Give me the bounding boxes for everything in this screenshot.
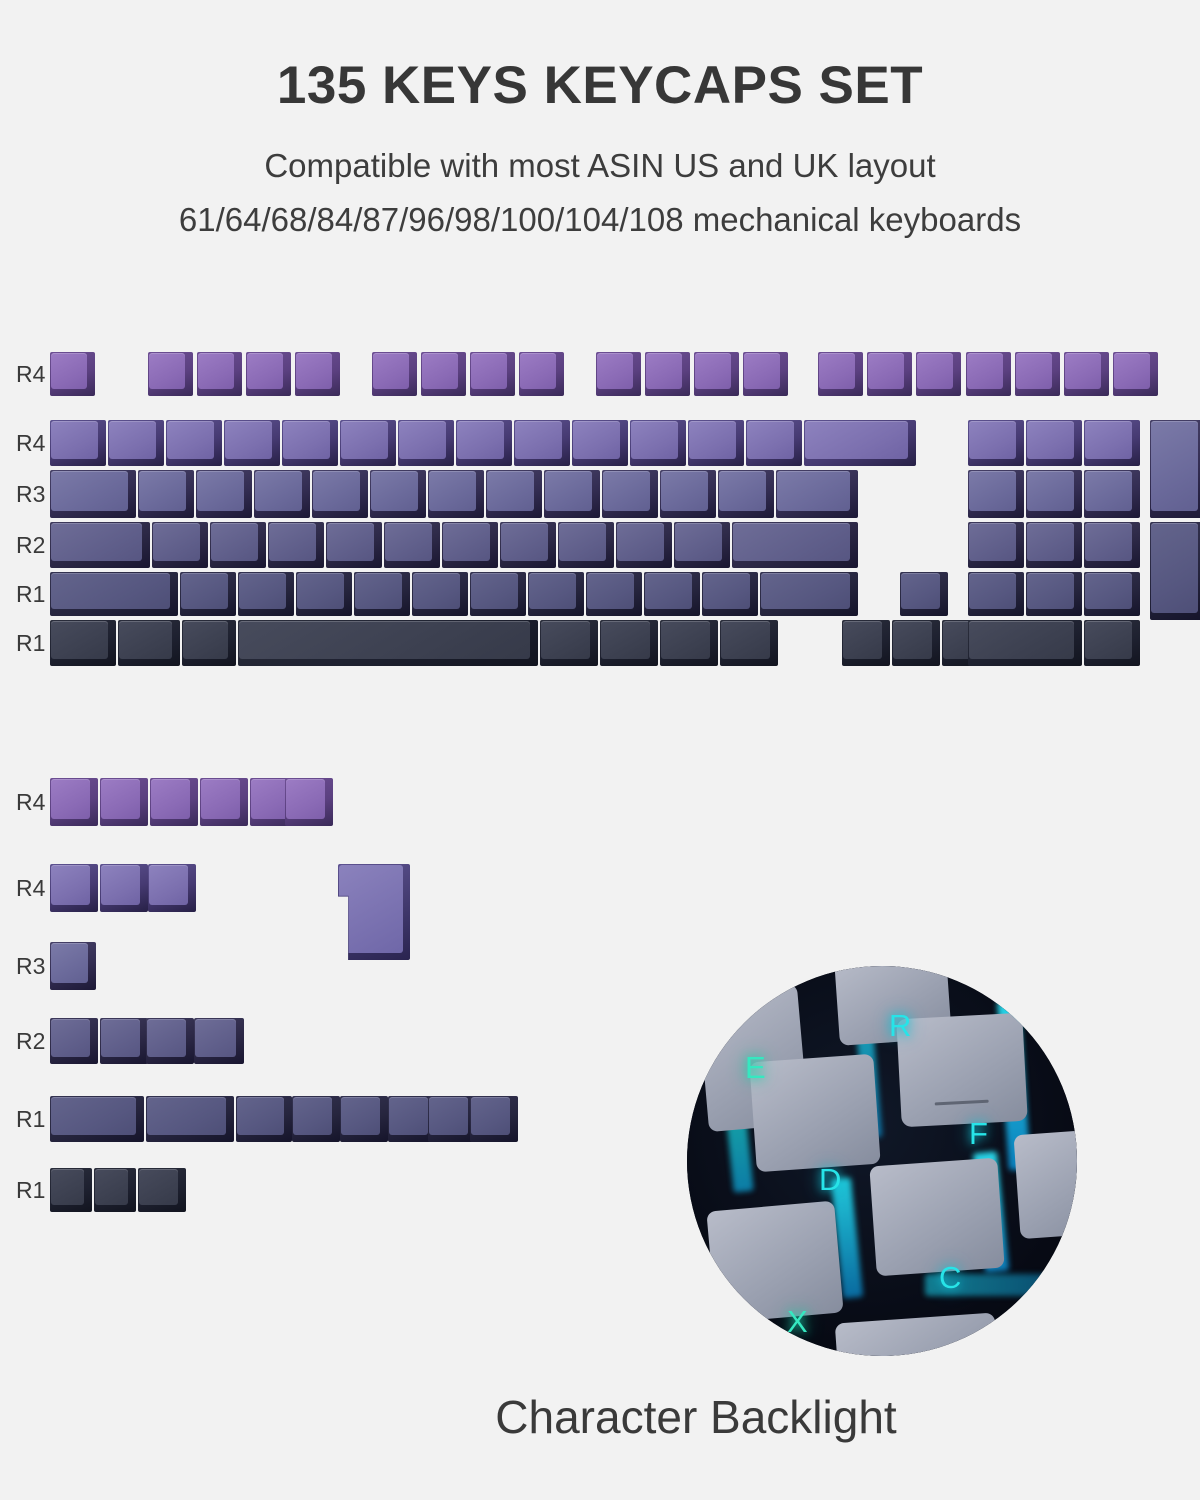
keycap-top-face <box>1085 621 1132 659</box>
main-keycap-r0-k16 <box>966 352 1011 396</box>
main-keycap-r2-k13 <box>968 470 1024 518</box>
keycap-top-face <box>147 1019 186 1057</box>
keycap-top-face <box>969 621 1074 659</box>
main-keycap-r2-k8 <box>544 470 600 518</box>
keycap-top-face <box>183 621 228 659</box>
keycap-top-face <box>101 1019 140 1057</box>
keycap-top-face <box>457 421 504 459</box>
main-keycap-r2-k0 <box>50 470 136 518</box>
keycap-top-face <box>429 471 476 511</box>
keycap-top-face <box>603 471 650 511</box>
photo-legend-c: C <box>939 1262 961 1293</box>
numpad-plus <box>1150 420 1200 518</box>
main-keycap-r0-k14 <box>867 352 912 396</box>
keycap-top-face <box>601 621 650 659</box>
main-keycap-r5-k9 <box>892 620 940 666</box>
main-keycap-r4-k5 <box>412 572 468 616</box>
keycap-top-face <box>471 573 518 609</box>
main-keycap-r1-k2 <box>166 420 222 466</box>
extra-keycaps-section: R4R4R3R2R1R1 <box>0 778 640 1218</box>
extra-keycap-r5-k1 <box>94 1168 136 1212</box>
keycap-top-face <box>286 779 325 819</box>
keycap-top-face <box>703 573 750 609</box>
main-keycap-r3-k7 <box>500 522 556 568</box>
keycap-top-face <box>733 523 850 561</box>
main-keycap-r4-k10 <box>702 572 758 616</box>
keycap-top-face <box>237 1097 284 1135</box>
keycap-top-face <box>313 471 360 511</box>
main-keycap-r4-k0 <box>50 572 178 616</box>
keycap-top-face <box>147 1097 226 1135</box>
main-keycap-r3-k9 <box>616 522 672 568</box>
main-keycap-r2-k9 <box>602 470 658 518</box>
main-keycap-r2-k4 <box>312 470 368 518</box>
main-keycap-r3-k1 <box>152 522 208 568</box>
main-keycap-r5-k7 <box>720 620 778 666</box>
keycap-top-face <box>1027 471 1074 511</box>
numpad-enter <box>1150 522 1200 620</box>
main-keycap-r1-k16 <box>1084 420 1140 466</box>
keycap-top-face <box>1027 573 1074 609</box>
keycap-top-face <box>901 573 940 609</box>
extra-keycap-r4-k1 <box>146 1096 234 1142</box>
keycap-top-face <box>371 471 418 511</box>
keycap-top-face <box>631 421 678 459</box>
keycap-top-face <box>661 471 708 511</box>
main-keycap-r2-k3 <box>254 470 310 518</box>
keycap-top-face <box>149 353 185 389</box>
keycap-top-face <box>51 573 170 609</box>
main-keycap-r5-k1 <box>118 620 180 666</box>
keycap-top-face <box>1114 353 1150 389</box>
keycap-top-face <box>51 621 108 659</box>
extra-keycap-r3-k3 <box>194 1018 244 1064</box>
main-keycap-r4-k11 <box>760 572 858 616</box>
main-keycap-r1-k12 <box>746 420 802 466</box>
keycap-top-face <box>969 523 1016 561</box>
keycap-top-face <box>969 573 1016 609</box>
keycap-top-face <box>296 353 332 389</box>
keycap-top-face <box>109 421 156 459</box>
keycap-top-face <box>843 621 882 659</box>
main-keycap-r5-k5 <box>600 620 658 666</box>
keycap-top-face <box>101 865 140 905</box>
keycap-top-face <box>153 523 200 561</box>
keycap-top-face <box>969 471 1016 511</box>
keycap-top-face <box>967 353 1003 389</box>
keycap-top-face <box>695 353 731 389</box>
main-keycap-r1-k4 <box>282 420 338 466</box>
main-keycap-r3-k2 <box>210 522 266 568</box>
main-keycap-r0-k11 <box>694 352 739 396</box>
keycap-top-face <box>51 865 90 905</box>
main-keycap-r0-k3 <box>246 352 291 396</box>
photo-legend-x: X <box>787 1306 808 1337</box>
iso-enter-keycap <box>338 864 410 960</box>
extra-keycap-r4-k7 <box>470 1096 518 1142</box>
keycap-top-face <box>373 353 409 389</box>
photo-legend-r: R <box>889 1010 911 1041</box>
extra-keycap-r4-k0 <box>50 1096 144 1142</box>
keycap-top-face <box>399 421 446 459</box>
keycap-top-face <box>101 779 140 819</box>
main-keycap-r4-k9 <box>644 572 700 616</box>
main-keycap-r3-k0 <box>50 522 150 568</box>
main-keycap-r1-k7 <box>456 420 512 466</box>
main-keycap-r1-k13 <box>804 420 916 466</box>
keycap-top-face <box>149 865 188 905</box>
keycap-top-face <box>297 573 344 609</box>
keycap-top-face <box>1016 353 1052 389</box>
main-keycap-r0-k5 <box>372 352 417 396</box>
main-keycap-r3-k12 <box>968 522 1024 568</box>
keycap-top-face <box>545 471 592 511</box>
main-keycap-r1-k6 <box>398 420 454 466</box>
backlight-photo-wrapper: E R D F X C <box>687 966 1077 1356</box>
extra-keycap-r5-k0 <box>50 1168 92 1212</box>
main-keycap-r0-k1 <box>148 352 193 396</box>
keycap-top-face <box>969 421 1016 459</box>
main-keycap-r2-k5 <box>370 470 426 518</box>
main-keycap-r0-k10 <box>645 352 690 396</box>
main-keycap-r4-k2 <box>238 572 294 616</box>
main-keycap-r0-k17 <box>1015 352 1060 396</box>
main-keycap-r3-k5 <box>384 522 440 568</box>
keycap-top-face <box>675 523 722 561</box>
main-keycap-r3-k10 <box>674 522 730 568</box>
keycap-top-face <box>617 523 664 561</box>
keycap-top-face <box>487 471 534 511</box>
main-keycap-r4-k14 <box>1026 572 1082 616</box>
keycap-top-face <box>201 779 240 819</box>
main-keycap-r3-k14 <box>1084 522 1140 568</box>
keycap-top-face <box>893 621 932 659</box>
main-keycap-r5-k8 <box>842 620 890 666</box>
keycap-top-face <box>1027 421 1074 459</box>
keycap-top-face <box>255 471 302 511</box>
keycap-top-face <box>559 523 606 561</box>
main-keycap-r2-k7 <box>486 470 542 518</box>
extra-keycap-r0-k5 <box>285 778 333 826</box>
keycap-top-face <box>269 523 316 561</box>
keycap-top-face <box>443 523 490 561</box>
keycap-top-face <box>1151 523 1198 613</box>
main-keycap-r2-k1 <box>138 470 194 518</box>
keycap-top-face <box>1065 353 1101 389</box>
main-keycap-r1-k5 <box>340 420 396 466</box>
subtitle-line-1: Compatible with most ASIN US and UK layo… <box>0 148 1200 184</box>
extra-keycap-r0-k2 <box>150 778 198 826</box>
main-keycap-r1-k1 <box>108 420 164 466</box>
photo-key-x-row <box>706 1201 843 1324</box>
header-block: 135 KEYS KEYCAPS SET Compatible with mos… <box>0 0 1200 238</box>
main-keycap-r4-k13 <box>968 572 1024 616</box>
main-keycap-r1-k10 <box>630 420 686 466</box>
main-keyboard-layout: R4R4R3R2R1R1 <box>0 352 1200 692</box>
keycap-top-face <box>744 353 780 389</box>
main-keycap-r4-k6 <box>470 572 526 616</box>
main-keycap-r4-k4 <box>354 572 410 616</box>
keycap-top-face <box>197 471 244 511</box>
keycap-top-face <box>51 779 90 819</box>
keycap-top-face <box>1085 523 1132 561</box>
extra-keycap-r5-k2 <box>138 1168 186 1212</box>
keycap-top-face <box>167 421 214 459</box>
keycap-top-face <box>529 573 576 609</box>
photo-key-c-row <box>869 1158 1004 1277</box>
keycap-top-face <box>195 1019 236 1057</box>
main-keycap-r0-k19 <box>1113 352 1158 396</box>
keycap-top-face <box>646 353 682 389</box>
main-keycap-r1-k8 <box>514 420 570 466</box>
main-keycap-r5-k12 <box>1084 620 1140 666</box>
main-keycap-r0-k2 <box>197 352 242 396</box>
main-keycap-r2-k2 <box>196 470 252 518</box>
subtitle-line-2: 61/64/68/84/87/96/98/100/104/108 mechani… <box>0 202 1200 238</box>
extra-keycap-r1-k0 <box>50 864 98 912</box>
keycap-top-face <box>51 471 128 511</box>
extra-keycap-r4-k3 <box>292 1096 340 1142</box>
keycap-top-face <box>868 353 904 389</box>
keycap-top-face <box>327 523 374 561</box>
page-title: 135 KEYS KEYCAPS SET <box>0 58 1200 114</box>
main-keycap-r4-k15 <box>1084 572 1140 616</box>
keycap-top-face <box>225 421 272 459</box>
keycap-top-face <box>501 523 548 561</box>
keycap-top-face <box>51 353 87 389</box>
main-keycap-r5-k0 <box>50 620 116 666</box>
keycap-top-face <box>283 421 330 459</box>
main-keycap-r0-k9 <box>596 352 641 396</box>
extra-keycap-r4-k4 <box>340 1096 388 1142</box>
keycap-top-face <box>587 573 634 609</box>
keycap-top-face <box>777 471 850 511</box>
main-keycap-r2-k6 <box>428 470 484 518</box>
keycap-top-face <box>51 1097 136 1135</box>
keycap-top-face <box>917 353 953 389</box>
keycap-top-face <box>355 573 402 609</box>
keycap-top-face <box>413 573 460 609</box>
keycap-top-face <box>51 523 142 561</box>
keycap-top-face <box>389 1097 428 1135</box>
main-keycap-r0-k4 <box>295 352 340 396</box>
photo-caption-text: Character Backlight <box>295 1390 896 1444</box>
extra-keycap-r3-k1 <box>100 1018 148 1064</box>
extra-keycap-r3-k2 <box>146 1018 194 1064</box>
main-keycap-r4-k12 <box>900 572 948 616</box>
keycap-top-face <box>1085 573 1132 609</box>
keycap-top-face <box>139 471 186 511</box>
keycap-top-face <box>515 421 562 459</box>
keycap-top-face <box>151 779 190 819</box>
keycap-top-face <box>211 523 258 561</box>
keycap-top-face <box>239 621 530 659</box>
main-keycap-r2-k12 <box>776 470 858 518</box>
main-keycap-r1-k0 <box>50 420 106 466</box>
extra-keycap-r4-k2 <box>236 1096 292 1142</box>
keycap-top-face <box>198 353 234 389</box>
keycap-top-face <box>689 421 736 459</box>
main-keycap-r4-k3 <box>296 572 352 616</box>
keycap-top-face <box>51 421 98 459</box>
keycap-top-face <box>721 621 770 659</box>
main-keycap-r0-k13 <box>818 352 863 396</box>
main-keycap-r5-k2 <box>182 620 236 666</box>
main-keycap-r1-k15 <box>1026 420 1082 466</box>
photo-key-e <box>749 1054 880 1172</box>
main-keycap-r0-k7 <box>470 352 515 396</box>
main-keycap-r1-k9 <box>572 420 628 466</box>
main-keycap-r3-k4 <box>326 522 382 568</box>
main-keycap-r1-k3 <box>224 420 280 466</box>
main-keycap-r2-k10 <box>660 470 716 518</box>
keycap-top-face <box>520 353 556 389</box>
main-keycap-r4-k1 <box>180 572 236 616</box>
keycap-top-face <box>471 1097 510 1135</box>
main-keycap-r4-k8 <box>586 572 642 616</box>
main-keycap-r5-k6 <box>660 620 718 666</box>
main-keycap-r0-k6 <box>421 352 466 396</box>
photo-legend-d: D <box>819 1164 841 1195</box>
extra-keycap-r0-k3 <box>200 778 248 826</box>
keycap-top-face <box>761 573 850 609</box>
keycap-top-face <box>51 1169 84 1205</box>
backlight-product-photo: E R D F X C <box>687 966 1077 1356</box>
main-keycap-r4-k7 <box>528 572 584 616</box>
keycap-top-face <box>385 523 432 561</box>
main-keycap-r3-k6 <box>442 522 498 568</box>
extra-keycap-r3-k0 <box>50 1018 98 1064</box>
main-keycap-r3-k11 <box>732 522 858 568</box>
keycap-top-face <box>541 621 590 659</box>
keycap-top-face <box>429 1097 468 1135</box>
main-keycap-r2-k14 <box>1026 470 1082 518</box>
keycap-top-face <box>1085 471 1132 511</box>
main-keycap-r2-k11 <box>718 470 774 518</box>
photo-legend-e: E <box>745 1052 766 1083</box>
main-keycap-r5-k3 <box>238 620 538 666</box>
extra-keycap-r1-k2 <box>148 864 196 912</box>
main-keycap-r2-k15 <box>1084 470 1140 518</box>
keycap-top-face <box>239 573 286 609</box>
main-keycap-r0-k12 <box>743 352 788 396</box>
main-keycap-r0-k18 <box>1064 352 1109 396</box>
keycap-top-face <box>573 421 620 459</box>
keycap-top-face <box>805 421 908 459</box>
keycap-top-face <box>139 1169 178 1205</box>
extra-keycap-r1-k1 <box>100 864 148 912</box>
main-keycap-r0-k0 <box>50 352 95 396</box>
keycap-top-face <box>51 1019 90 1057</box>
extra-keycap-r4-k6 <box>428 1096 476 1142</box>
keycap-top-face <box>719 471 766 511</box>
keycap-top-face <box>819 353 855 389</box>
keycap-top-face <box>95 1169 128 1205</box>
keycap-top-face <box>293 1097 332 1135</box>
photo-key-f-homing <box>896 1013 1027 1127</box>
main-keycap-r1-k11 <box>688 420 744 466</box>
main-keycap-r1-k14 <box>968 420 1024 466</box>
keycap-top-face <box>422 353 458 389</box>
main-keycap-r0-k15 <box>916 352 961 396</box>
keycap-top-face <box>645 573 692 609</box>
keycap-top-face <box>181 573 228 609</box>
main-keycap-r3-k3 <box>268 522 324 568</box>
photo-legend-f: F <box>969 1118 988 1149</box>
keycap-top-face <box>341 421 388 459</box>
keycap-top-face <box>1027 523 1074 561</box>
keycap-top-face <box>1151 421 1198 511</box>
extra-keycap-r0-k1 <box>100 778 148 826</box>
main-keycap-r3-k8 <box>558 522 614 568</box>
keycap-top-face <box>597 353 633 389</box>
main-keycap-r5-k4 <box>540 620 598 666</box>
main-keycap-r0-k8 <box>519 352 564 396</box>
main-keycap-r5-k11 <box>968 620 1082 666</box>
keycap-top-face <box>661 621 710 659</box>
extra-keycap-r2-k0 <box>50 942 96 990</box>
main-keycap-r3-k13 <box>1026 522 1082 568</box>
homing-bar <box>935 1100 989 1106</box>
keycap-top-face <box>247 353 283 389</box>
keycap-top-face <box>1085 421 1132 459</box>
keycap-top-face <box>341 1097 380 1135</box>
photo-caption: Character Backlight <box>0 1390 1200 1444</box>
keycap-top-face <box>119 621 172 659</box>
extra-keycap-r0-k0 <box>50 778 98 826</box>
keycap-top-face <box>471 353 507 389</box>
photo-key-right <box>1013 1129 1077 1239</box>
keycap-top-face <box>51 943 88 983</box>
keycap-top-face <box>747 421 794 459</box>
